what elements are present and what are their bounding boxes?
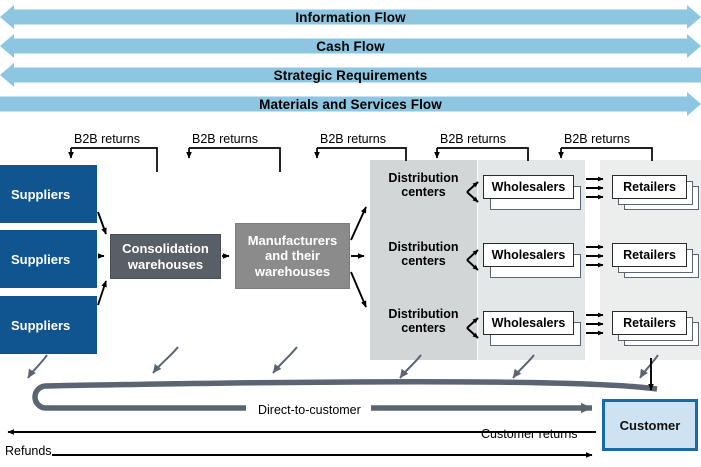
drop-arrow-suppliers: [28, 355, 47, 378]
manufacturers-label: Manufacturersand theirwarehouses: [248, 233, 338, 279]
wholesalers-label-2: Wholesalers: [483, 243, 574, 267]
b2b-returns-label-1: B2B returns: [74, 132, 140, 146]
supplier-box-1[interactable]: Suppliers: [0, 165, 97, 223]
customer-box[interactable]: Customer: [602, 399, 698, 451]
direct-to-customer-pipe-uturn: [35, 386, 246, 408]
distribution-center-label-1: Distributioncenters: [373, 171, 474, 200]
b2b-returns-bracket-2: [189, 148, 280, 172]
retailers-label-2: Retailers: [612, 243, 687, 267]
direct-to-customer-label: Direct-to-customer: [258, 403, 361, 417]
customer-label: Customer: [620, 418, 681, 433]
supplier-label-1: Suppliers: [11, 187, 70, 202]
supplier-label-3: Suppliers: [11, 318, 70, 333]
retailers-stack-1[interactable]: Retailers: [612, 175, 698, 213]
consolidation-warehouses-box[interactable]: Consolidationwarehouses: [110, 234, 221, 279]
manufacturers-box[interactable]: Manufacturersand theirwarehouses: [235, 223, 350, 289]
retailers-stack-3[interactable]: Retailers: [612, 311, 698, 349]
flow-bar-information: Information Flow: [0, 5, 701, 29]
wholesalers-stack-1[interactable]: Wholesalers: [483, 175, 579, 208]
retailers-label-3: Retailers: [612, 311, 687, 335]
manufacturer-to-dc-1: [351, 207, 366, 240]
wholesalers-label-1: Wholesalers: [483, 175, 574, 199]
flow-bar-strategic-label: Strategic Requirements: [0, 63, 701, 87]
wholesalers-label-3: Wholesalers: [483, 311, 574, 335]
supplier-3-to-consolidation: [98, 281, 106, 305]
flow-bar-strategic: Strategic Requirements: [0, 63, 701, 87]
b2b-returns-label-5: B2B returns: [564, 132, 630, 146]
refunds-label: Refunds: [5, 444, 52, 458]
retailers-label-1: Retailers: [612, 175, 687, 199]
supplier-box-2[interactable]: Suppliers: [0, 230, 97, 288]
direct-to-customer-pipe-top: [46, 382, 657, 389]
flow-bar-information-label: Information Flow: [0, 5, 701, 29]
retailers-stack-2[interactable]: Retailers: [612, 243, 698, 281]
drop-arrow-manufacturers: [273, 347, 297, 373]
wholesalers-stack-2[interactable]: Wholesalers: [483, 243, 579, 276]
drop-arrow-consolidation: [153, 347, 178, 373]
flow-bar-materials-label: Materials and Services Flow: [0, 92, 701, 116]
supplier-box-3[interactable]: Suppliers: [0, 296, 97, 354]
supplier-label-2: Suppliers: [11, 252, 70, 267]
supplier-to-consolidation-arrows: [98, 212, 106, 305]
flow-bar-materials: Materials and Services Flow: [0, 92, 701, 116]
manufacturers-to-distribution-arrows: [351, 207, 366, 307]
wholesalers-stack-3[interactable]: Wholesalers: [483, 311, 579, 344]
supply-chain-diagram: Information Flow Cash Flow Strategic Req…: [0, 0, 701, 467]
customer-returns-label: Customer returns: [481, 427, 578, 441]
consolidation-warehouses-label: Consolidationwarehouses: [122, 241, 209, 272]
b2b-returns-label-4: B2B returns: [440, 132, 506, 146]
flow-bar-cash-label: Cash Flow: [0, 34, 701, 58]
flow-bar-cash: Cash Flow: [0, 34, 701, 58]
supplier-1-to-consolidation: [98, 212, 106, 234]
manufacturer-to-dc-3: [351, 272, 366, 307]
distribution-center-label-3: Distributioncenters: [373, 307, 474, 336]
distribution-center-label-2: Distributioncenters: [373, 240, 474, 269]
b2b-returns-label-3: B2B returns: [320, 132, 386, 146]
b2b-returns-label-2: B2B returns: [192, 132, 258, 146]
